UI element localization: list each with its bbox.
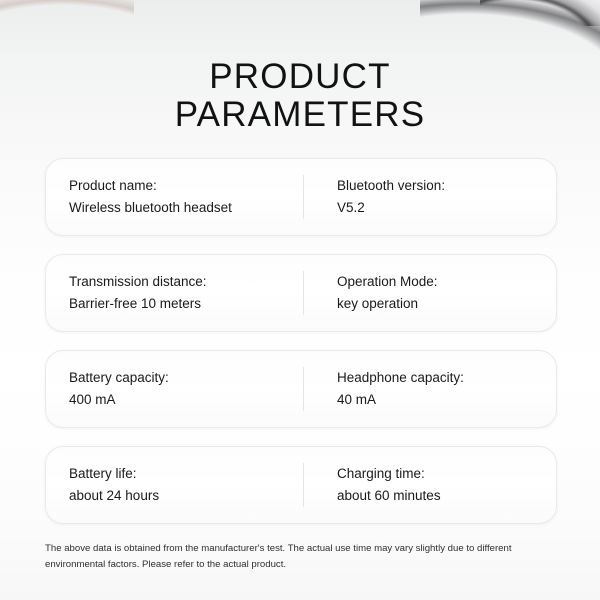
page-title-line-2: PARAMETERS [0, 96, 600, 134]
parameter-value: about 24 hours [69, 485, 303, 507]
product-parameters-page: PRODUCT PARAMETERS Product name: Wireles… [0, 0, 600, 600]
parameter-card: Transmission distance: Barrier-free 10 m… [45, 254, 557, 332]
parameter-value: 40 mA [337, 389, 556, 411]
parameter-value: Barrier-free 10 meters [69, 293, 303, 315]
parameter-value: key operation [337, 293, 556, 315]
parameter-cell-left: Battery life: about 24 hours [46, 463, 303, 507]
parameter-card: Battery capacity: 400 mA Headphone capac… [45, 350, 557, 428]
parameter-label: Headphone capacity: [337, 367, 556, 389]
parameter-label: Battery capacity: [69, 367, 303, 389]
parameter-label: Charging time: [337, 463, 556, 485]
product-photo-corner-right-icon [420, 0, 600, 56]
product-photo-corner-left-icon [0, 0, 134, 58]
parameter-card: Battery life: about 24 hours Charging ti… [45, 446, 557, 524]
parameter-value: V5.2 [337, 197, 556, 219]
parameter-value: Wireless bluetooth headset [69, 197, 303, 219]
parameter-cell-right: Bluetooth version: V5.2 [304, 175, 556, 219]
parameter-value: 400 mA [69, 389, 303, 411]
parameter-label: Bluetooth version: [337, 175, 556, 197]
parameter-cell-left: Transmission distance: Barrier-free 10 m… [46, 271, 303, 315]
parameter-card: Product name: Wireless bluetooth headset… [45, 158, 557, 236]
parameter-label: Product name: [69, 175, 303, 197]
disclaimer-text: The above data is obtained from the manu… [45, 541, 551, 573]
parameter-value: about 60 minutes [337, 485, 556, 507]
parameter-cell-left: Battery capacity: 400 mA [46, 367, 303, 411]
parameter-cell-right: Charging time: about 60 minutes [304, 463, 556, 507]
parameter-cell-right: Headphone capacity: 40 mA [304, 367, 556, 411]
page-title-line-1: PRODUCT [0, 58, 600, 96]
page-title: PRODUCT PARAMETERS [0, 58, 600, 134]
parameter-cell-right: Operation Mode: key operation [304, 271, 556, 315]
parameter-label: Battery life: [69, 463, 303, 485]
product-photo-corner-right-detail-icon [480, 0, 600, 26]
parameter-label: Transmission distance: [69, 271, 303, 293]
parameter-cell-left: Product name: Wireless bluetooth headset [46, 175, 303, 219]
parameter-label: Operation Mode: [337, 271, 556, 293]
parameter-card-list: Product name: Wireless bluetooth headset… [45, 158, 557, 524]
